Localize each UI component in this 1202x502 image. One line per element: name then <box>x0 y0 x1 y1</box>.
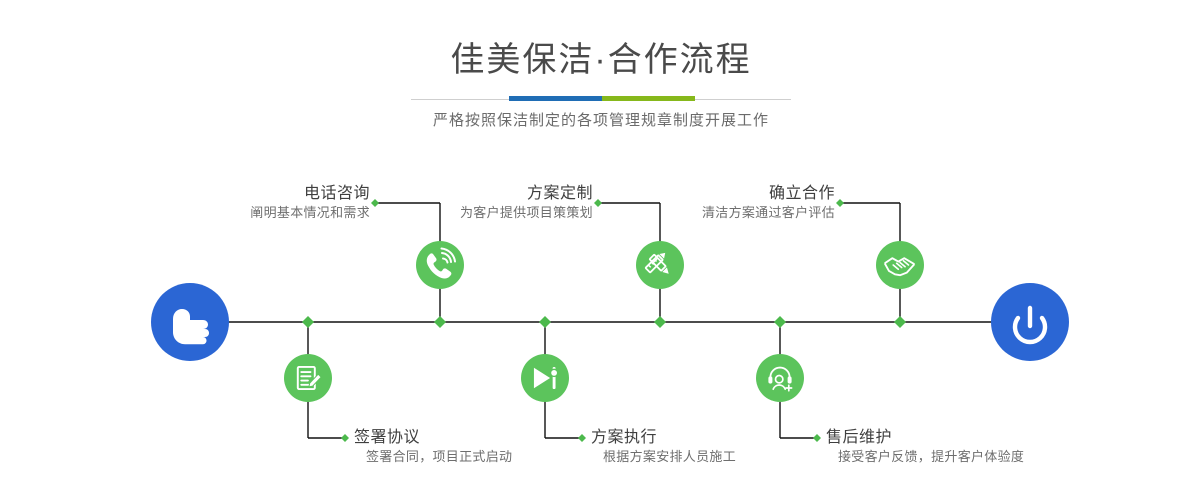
step-label-5: 确立合作 清洁方案通过客户评估 <box>625 184 835 222</box>
step-icon-5[interactable] <box>876 241 924 289</box>
step-desc-5: 清洁方案通过客户评估 <box>625 204 835 222</box>
step-title-6: 售后维护 <box>826 428 1076 448</box>
step-label-2: 签署协议 签署合同，项目正式启动 <box>354 428 584 466</box>
step-title-4: 方案执行 <box>591 428 821 448</box>
step-title-1: 电话咨询 <box>155 184 370 204</box>
flow-start-node[interactable] <box>151 283 229 361</box>
step-title-5: 确立合作 <box>625 184 835 204</box>
title-divider <box>411 96 791 102</box>
step-icon-6[interactable] <box>756 354 804 402</box>
step-desc-4: 根据方案安排人员施工 <box>591 448 821 466</box>
step-title-3: 方案定制 <box>385 184 593 204</box>
page-root: 佳美保洁·合作流程 严格按照保洁制定的各项管理规章制度开展工作 <box>0 0 1202 502</box>
step-icon-3[interactable] <box>636 241 684 289</box>
process-flow-diagram: 电话咨询 阐明基本情况和需求 方案定制 为客户提供项目策策划 确立合作 清洁方案… <box>0 150 1202 502</box>
step-label-4: 方案执行 根据方案安排人员施工 <box>591 428 821 466</box>
step-label-3: 方案定制 为客户提供项目策策划 <box>385 184 593 222</box>
step-icon-4[interactable] <box>521 354 569 402</box>
divider-segment-green <box>602 96 695 101</box>
step-desc-6: 接受客户反馈，提升客户体验度 <box>826 448 1076 466</box>
step-desc-3: 为客户提供项目策策划 <box>385 204 593 222</box>
page-title: 佳美保洁·合作流程 <box>0 40 1202 80</box>
step-title-2: 签署协议 <box>354 428 584 448</box>
step-icon-1[interactable] <box>416 241 464 289</box>
divider-segment-blue <box>509 96 602 101</box>
step-desc-1: 阐明基本情况和需求 <box>155 204 370 222</box>
page-header: 佳美保洁·合作流程 严格按照保洁制定的各项管理规章制度开展工作 <box>0 0 1202 131</box>
step-desc-2: 签署合同，项目正式启动 <box>354 448 584 466</box>
step-icon-2[interactable] <box>284 354 332 402</box>
step-label-1: 电话咨询 阐明基本情况和需求 <box>155 184 370 222</box>
page-subtitle: 严格按照保洁制定的各项管理规章制度开展工作 <box>0 111 1202 131</box>
step-label-6: 售后维护 接受客户反馈，提升客户体验度 <box>826 428 1076 466</box>
flow-end-node[interactable] <box>991 283 1069 361</box>
